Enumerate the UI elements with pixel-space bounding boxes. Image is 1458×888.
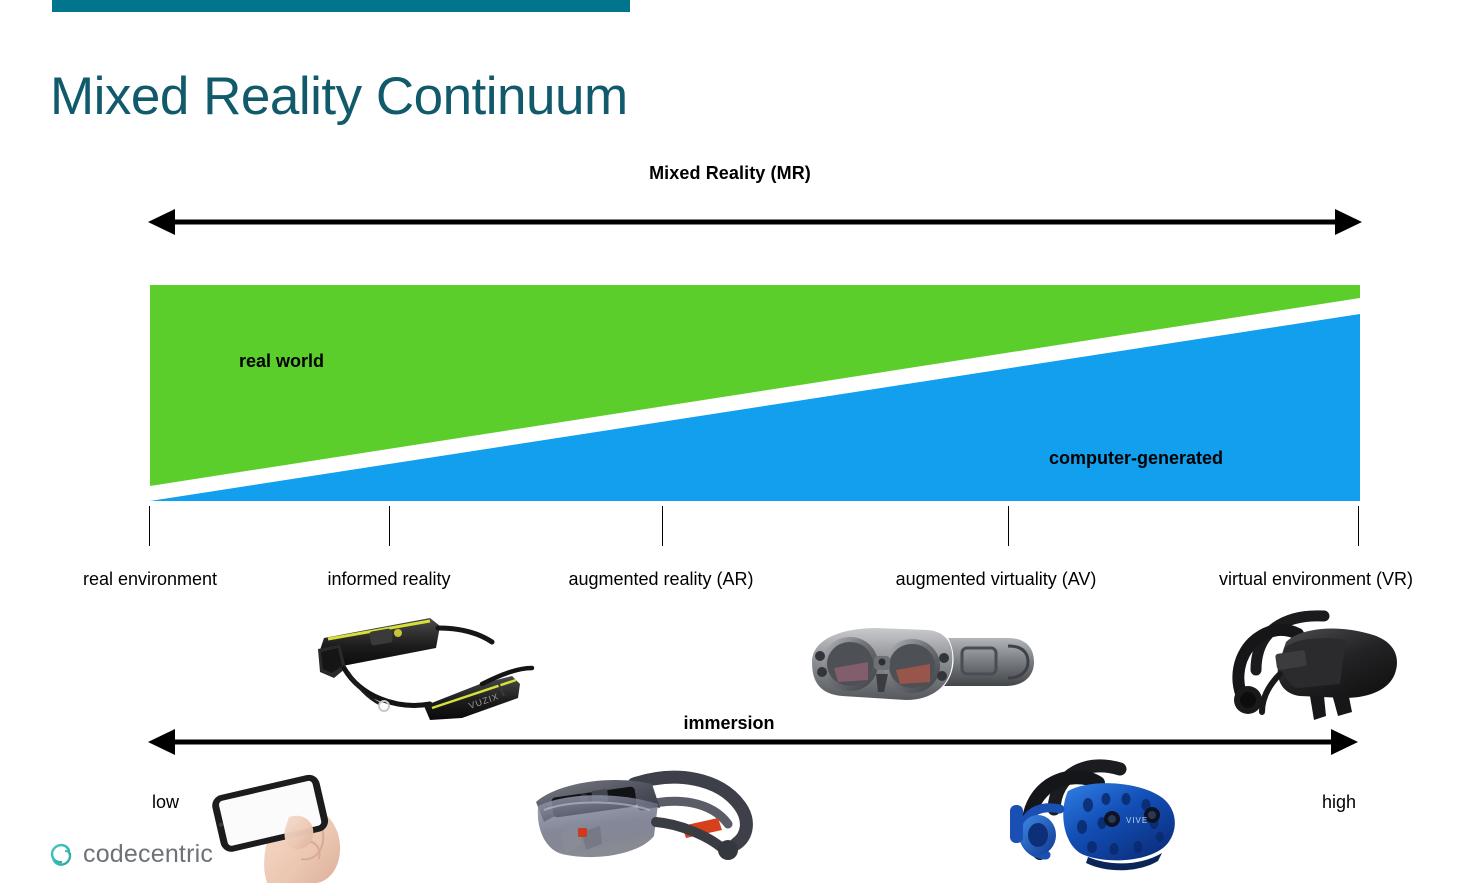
codecentric-wordmark: codecentric	[83, 840, 213, 869]
top-accent-bar	[52, 0, 630, 12]
real-world-label: real world	[239, 351, 324, 372]
axis-label-augmented-reality: augmented reality (AR)	[568, 569, 753, 590]
hololens-headset-image	[522, 762, 754, 880]
axis-label-augmented-virtuality: augmented virtuality (AV)	[896, 569, 1097, 590]
tick-augmented-virtuality	[1008, 506, 1009, 546]
axis-label-real-environment: real environment	[83, 569, 217, 590]
oculus-rift-headset-image	[1228, 608, 1408, 730]
tick-augmented-reality	[662, 506, 663, 546]
svg-text:VIVE: VIVE	[1126, 816, 1148, 825]
immersion-high-label: high	[1322, 792, 1356, 813]
computer-generated-label: computer-generated	[1049, 448, 1223, 469]
magic-leap-headset-image	[802, 616, 1036, 722]
codecentric-swirl-icon	[48, 842, 74, 868]
page-title: Mixed Reality Continuum	[50, 66, 628, 127]
immersion-low-label: low	[152, 792, 179, 813]
mixed-reality-axis-label-text: Mixed Reality (MR)	[649, 163, 811, 183]
axis-label-informed-reality: informed reality	[327, 569, 450, 590]
mixed-reality-axis-label: Mixed Reality (MR)	[0, 163, 1458, 184]
immersion-range-arrow	[148, 727, 1358, 757]
htc-vive-pro-headset-image: VIVE	[1002, 757, 1188, 881]
tick-virtual-environment	[1358, 506, 1359, 546]
mixed-reality-range-arrow	[148, 207, 1362, 237]
axis-label-virtual-environment: virtual environment (VR)	[1219, 569, 1413, 590]
tick-real-environment	[149, 506, 150, 546]
smartphone-in-hand-image	[205, 757, 355, 883]
codecentric-logo: codecentric	[48, 840, 213, 869]
tick-informed-reality	[389, 506, 390, 546]
